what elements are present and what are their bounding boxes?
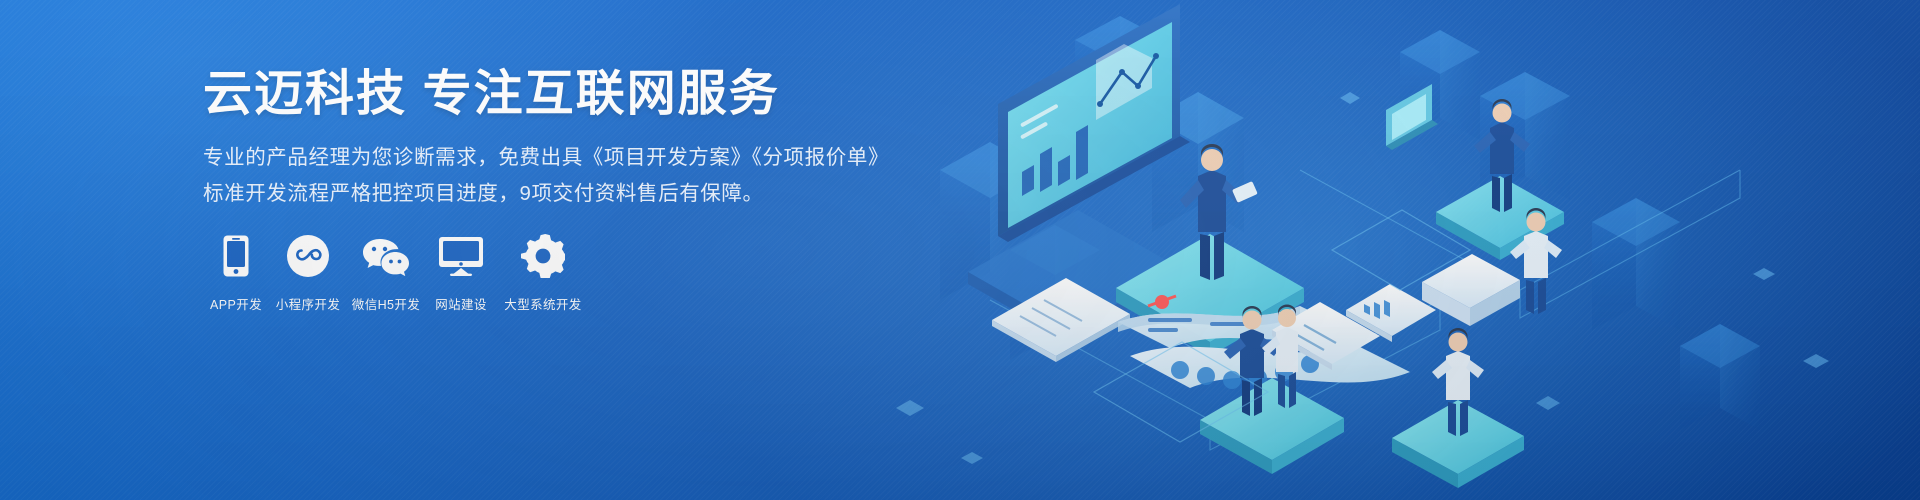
wechat-icon: [362, 232, 410, 280]
hero-subtitle-line-1: 专业的产品经理为您诊断需求，免费出具《项目开发方案》《分项报价单》: [203, 142, 963, 174]
service-item-large-system[interactable]: 大型系统开发: [497, 232, 589, 313]
hero-subtitle-line-2: 标准开发流程严格把控项目进度，9项交付资料售后有保障。: [203, 178, 963, 210]
service-label: 网站建设: [435, 294, 487, 313]
service-label: APP开发: [210, 294, 262, 313]
mini-program-icon: [287, 232, 329, 280]
isometric-team-dashboard-illustration: [880, 0, 1920, 500]
page-title: 云迈科技 专注互联网服务: [203, 66, 963, 124]
service-label: 小程序开发: [276, 294, 341, 313]
hero-banner: 云迈科技 专注互联网服务 专业的产品经理为您诊断需求，免费出具《项目开发方案》《…: [0, 0, 1920, 500]
service-label: 微信H5开发: [352, 294, 420, 313]
hero-copy: 云迈科技 专注互联网服务 专业的产品经理为您诊断需求，免费出具《项目开发方案》《…: [203, 66, 963, 210]
gear-icon: [521, 232, 565, 280]
service-item-wechat-h5[interactable]: 微信H5开发: [347, 232, 425, 313]
service-item-website[interactable]: 网站建设: [425, 232, 497, 313]
service-label: 大型系统开发: [504, 294, 581, 313]
mobile-phone-icon: [223, 232, 249, 280]
service-icon-list: APP开发 小程序开发 微信: [203, 232, 589, 313]
monitor-icon: [438, 232, 484, 280]
service-item-app[interactable]: APP开发: [203, 232, 269, 313]
service-item-mini-program[interactable]: 小程序开发: [269, 232, 347, 313]
